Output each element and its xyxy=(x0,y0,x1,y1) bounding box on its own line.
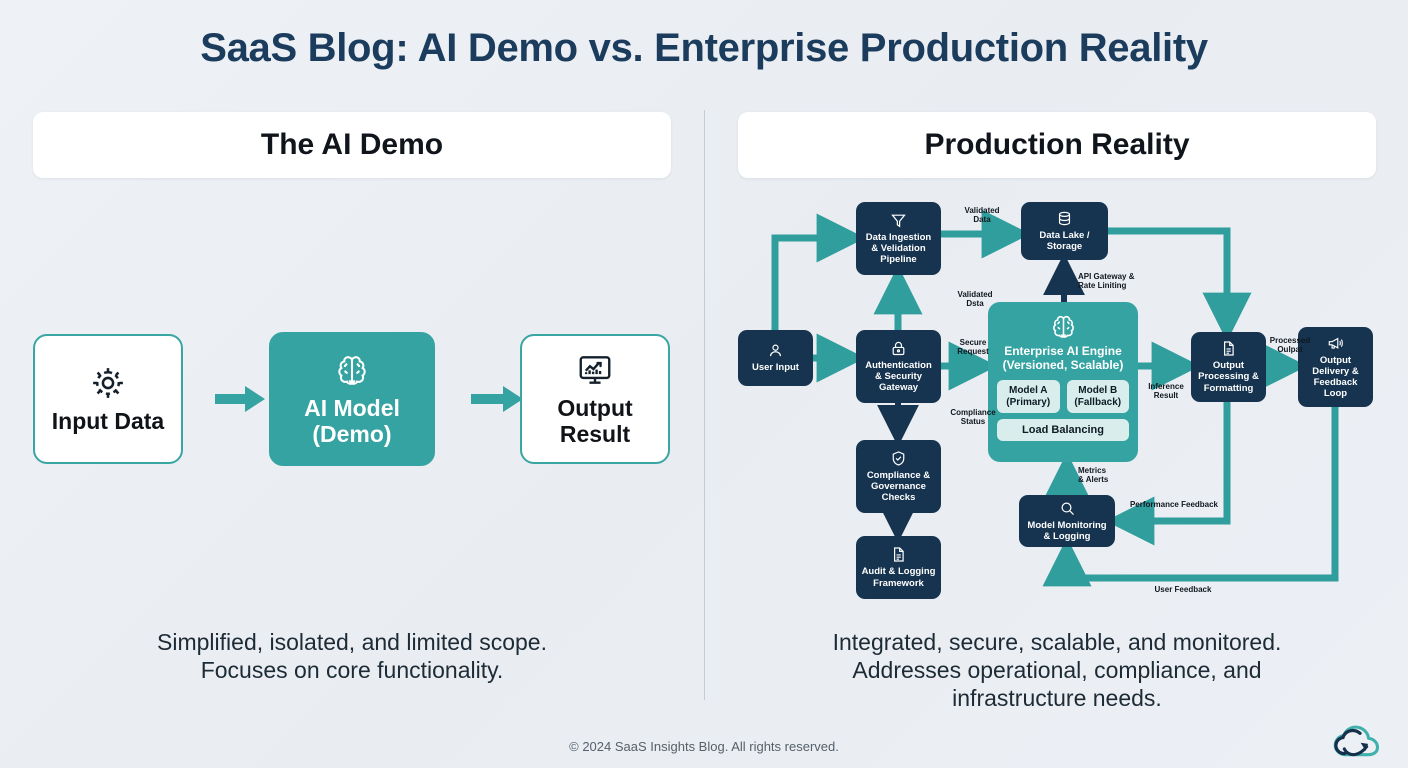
prod-node-data-ingestion[interactable]: Data Ingestion & Velidation Pipeline xyxy=(856,202,941,275)
engine-title: Enterprise AI Engine (Versioned, Scalabl… xyxy=(1003,345,1124,373)
demo-panel: The AI Demo xyxy=(33,112,671,178)
demo-node-input-data[interactable]: Input Data xyxy=(33,334,183,464)
edge-label-processed-output: Processed Oulpat xyxy=(1262,336,1318,355)
prod-node-label: User Input xyxy=(752,362,799,373)
production-flow-diagram: User Input Data Ingestion & Velidation P… xyxy=(738,190,1398,610)
demo-arrow-model-to-output xyxy=(471,384,523,414)
prod-node-output-processing[interactable]: Output Processing & Formatting xyxy=(1191,332,1266,402)
prod-node-enterprise-ai-engine[interactable]: Enterprise AI Engine (Versioned, Scalabl… xyxy=(988,302,1138,462)
prod-node-model-monitoring[interactable]: Model Monitoring & Logging xyxy=(1019,495,1115,547)
prod-node-label: Output Delivery & Feedback Loop xyxy=(1312,355,1358,399)
prod-node-audit-logging[interactable]: Audit & Logging Framework xyxy=(856,536,941,599)
engine-model-a[interactable]: Model A (Primary) xyxy=(997,380,1060,414)
demo-panel-header: The AI Demo xyxy=(33,112,671,178)
production-panel-header: Production Reality xyxy=(738,112,1376,178)
gear-icon xyxy=(89,364,127,402)
engine-load-balancing[interactable]: Load Balancing xyxy=(997,419,1129,441)
brain-icon xyxy=(1049,312,1078,341)
prod-node-user-input[interactable]: User Input xyxy=(738,330,813,386)
lock-icon xyxy=(890,340,907,357)
demo-node-label: Input Data xyxy=(52,409,164,435)
edge-label-api-gateway: API Gateway & Rate Liniting xyxy=(1078,272,1154,291)
shield-check-icon xyxy=(890,450,907,467)
prod-node-authentication-gateway[interactable]: Authentication & Security Gateway xyxy=(856,330,941,403)
edge-label-secure-request: Secure Request xyxy=(944,338,1002,357)
engine-model-row: Model A (Primary) Model B (Fallback) xyxy=(997,380,1129,414)
prod-node-label: Model Monitoring & Logging xyxy=(1027,520,1106,542)
database-icon xyxy=(1056,210,1073,227)
page-title: SaaS Blog: AI Demo vs. Enterprise Produc… xyxy=(0,26,1408,71)
footer-copyright: © 2024 SaaS Insights Blog. All rights re… xyxy=(0,739,1408,754)
edge-label-metrics-alerts: Metrics & Alerts xyxy=(1078,466,1130,485)
prod-node-label: Data Ingestion & Velidation Pipeline xyxy=(866,232,931,265)
demo-flow-diagram: Input Data AI Model (Demo) Output Result xyxy=(33,332,671,466)
document-icon xyxy=(890,546,907,563)
demo-caption: Simplified, isolated, and limited scope.… xyxy=(33,628,671,684)
prod-node-data-lake-storage[interactable]: Data Lake / Storage xyxy=(1021,202,1108,260)
document-icon xyxy=(1220,340,1237,357)
prod-node-label: Output Processing & Formatting xyxy=(1198,360,1259,393)
demo-node-ai-model[interactable]: AI Model (Demo) xyxy=(269,332,435,466)
production-caption: Integrated, secure, scalable, and monito… xyxy=(738,628,1376,712)
cloud-arrow-icon xyxy=(1328,722,1386,762)
chart-monitor-icon xyxy=(576,351,614,389)
brain-icon xyxy=(333,351,371,389)
prod-node-label: Data Lake / Storage xyxy=(1039,230,1089,252)
edge-label-user-feedback: User Feedback xyxy=(1138,585,1228,594)
edge-label-validated-dsta: Validated Dsta xyxy=(944,290,1006,309)
edge-label-performance-feedback: Performance Feedback xyxy=(1126,500,1222,509)
edge-label-inference-result: Inference Result xyxy=(1138,382,1194,401)
edge-label-compliance-status: Compliance Status xyxy=(942,408,1004,427)
prod-node-label: Audit & Logging Framework xyxy=(862,566,936,588)
prod-node-compliance-governance[interactable]: Compliance & Governance Checks xyxy=(856,440,941,513)
demo-node-label: AI Model (Demo) xyxy=(271,396,433,448)
engine-model-b[interactable]: Model B (Fallback) xyxy=(1067,380,1130,414)
demo-node-output-result[interactable]: Output Result xyxy=(520,334,670,464)
panel-divider xyxy=(704,110,705,700)
demo-node-label: Output Result xyxy=(522,396,668,448)
prod-node-label: Compliance & Governance Checks xyxy=(867,470,930,503)
production-panel: Production Reality xyxy=(738,112,1376,178)
demo-arrow-input-to-model xyxy=(215,384,265,414)
user-icon xyxy=(767,342,784,359)
edge-label-validated-data: Validated Data xyxy=(950,206,1014,225)
prod-node-label: Authentication & Security Gateway xyxy=(865,360,932,393)
funnel-icon xyxy=(890,212,907,229)
megaphone-icon xyxy=(1327,335,1344,352)
magnifier-icon xyxy=(1059,500,1076,517)
